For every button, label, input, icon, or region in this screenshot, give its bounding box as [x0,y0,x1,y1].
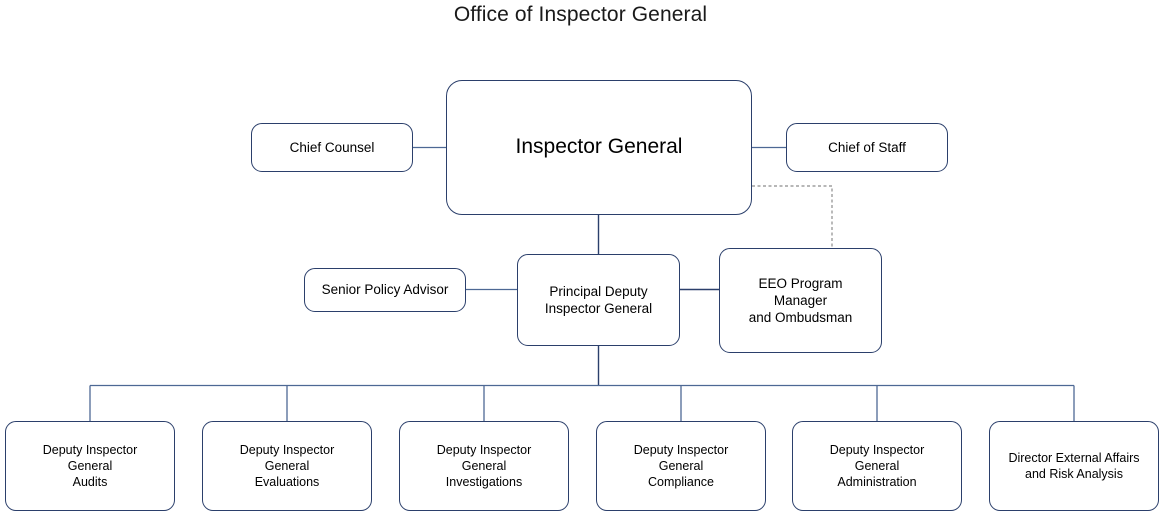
node-inspector-general[interactable]: Inspector General [446,80,752,215]
node-deputy-audits[interactable]: Deputy Inspector General Audits [5,421,175,511]
node-deputy-compliance[interactable]: Deputy Inspector General Compliance [596,421,766,511]
org-chart-canvas: Office of Inspector General Chief Counse… [0,0,1161,518]
node-deputy-evaluations-label: Deputy Inspector General Evaluations [234,442,341,490]
node-deputy-evaluations[interactable]: Deputy Inspector General Evaluations [202,421,372,511]
node-chief-counsel[interactable]: Chief Counsel [251,123,413,172]
node-deputy-administration-label: Deputy Inspector General Administration [824,442,931,490]
node-principal-deputy-inspector-general[interactable]: Principal Deputy Inspector General [517,254,680,346]
node-deputy-investigations-label: Deputy Inspector General Investigations [431,442,538,490]
node-eeo-label: EEO Program Manager and Ombudsman [743,275,859,327]
node-principal-deputy-label: Principal Deputy Inspector General [539,283,658,318]
node-senior-policy-advisor-label: Senior Policy Advisor [316,281,455,298]
node-eeo-program-manager-and-ombudsman[interactable]: EEO Program Manager and Ombudsman [719,248,882,353]
node-deputy-investigations[interactable]: Deputy Inspector General Investigations [399,421,569,511]
node-deputy-compliance-label: Deputy Inspector General Compliance [628,442,735,490]
node-inspector-general-label: Inspector General [510,134,689,161]
node-chief-of-staff[interactable]: Chief of Staff [786,123,948,172]
node-chief-of-staff-label: Chief of Staff [822,139,912,156]
node-director-external-affairs-and-risk-analysis[interactable]: Director External Affairs and Risk Analy… [989,421,1159,511]
node-deputy-administration[interactable]: Deputy Inspector General Administration [792,421,962,511]
node-deputy-audits-label: Deputy Inspector General Audits [37,442,144,490]
node-senior-policy-advisor[interactable]: Senior Policy Advisor [304,268,466,312]
page-title: Office of Inspector General [0,3,1161,27]
node-director-external-affairs-label: Director External Affairs and Risk Analy… [1002,450,1145,482]
node-chief-counsel-label: Chief Counsel [284,139,381,156]
connector-dotted-ig-to-eeo [752,186,832,249]
